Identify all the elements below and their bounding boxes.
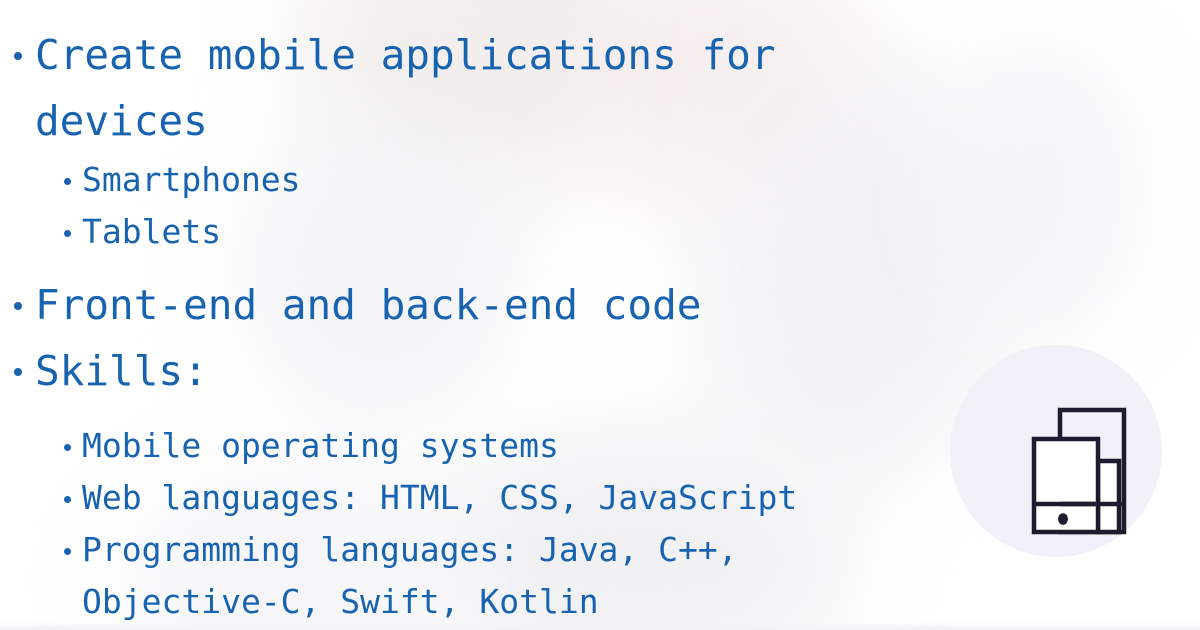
bullet-dot-icon: [14, 302, 22, 310]
mobile-devices-icon-container: [950, 345, 1162, 557]
bullet-dot-icon: [64, 548, 71, 555]
list-item: Web languages: HTML, CSS, JavaScript: [0, 472, 940, 524]
list-item: Smartphones: [0, 154, 940, 206]
slide-canvas: Create mobile applications for devices S…: [0, 0, 1200, 630]
list-item-label: Create mobile applications for devices: [35, 22, 940, 154]
list-spacer: [0, 258, 940, 272]
bullet-dot-icon: [64, 496, 71, 503]
bullet-dot-icon: [14, 52, 22, 60]
home-button-dot: [1058, 513, 1068, 525]
bullet-dot-icon: [14, 368, 22, 376]
list-item-label: Smartphones: [82, 154, 940, 206]
mobile-devices-icon: [988, 373, 1128, 545]
list-item: Skills:: [0, 338, 940, 404]
list-item-label: Programming languages: Java, C++, Object…: [82, 524, 940, 628]
list-item-label: Web languages: HTML, CSS, JavaScript: [82, 472, 940, 524]
list-item-label: Skills:: [35, 338, 940, 404]
list-item: Mobile operating systems: [0, 420, 940, 472]
bullet-dot-icon: [64, 444, 71, 451]
list-item-label: Mobile operating systems: [82, 420, 940, 472]
bullet-dot-icon: [64, 178, 71, 185]
list-item-label: Front-end and back-end code: [35, 272, 940, 338]
bullet-list: Create mobile applications for devices S…: [0, 0, 940, 628]
list-item: Front-end and back-end code: [0, 272, 940, 338]
list-item-label: Tablets: [82, 206, 940, 258]
list-item: Programming languages: Java, C++, Object…: [0, 524, 940, 628]
background-blob: [940, 40, 1140, 340]
list-item: Tablets: [0, 206, 940, 258]
list-spacer: [0, 404, 940, 420]
list-item: Create mobile applications for devices: [0, 22, 940, 154]
bullet-dot-icon: [64, 230, 71, 237]
